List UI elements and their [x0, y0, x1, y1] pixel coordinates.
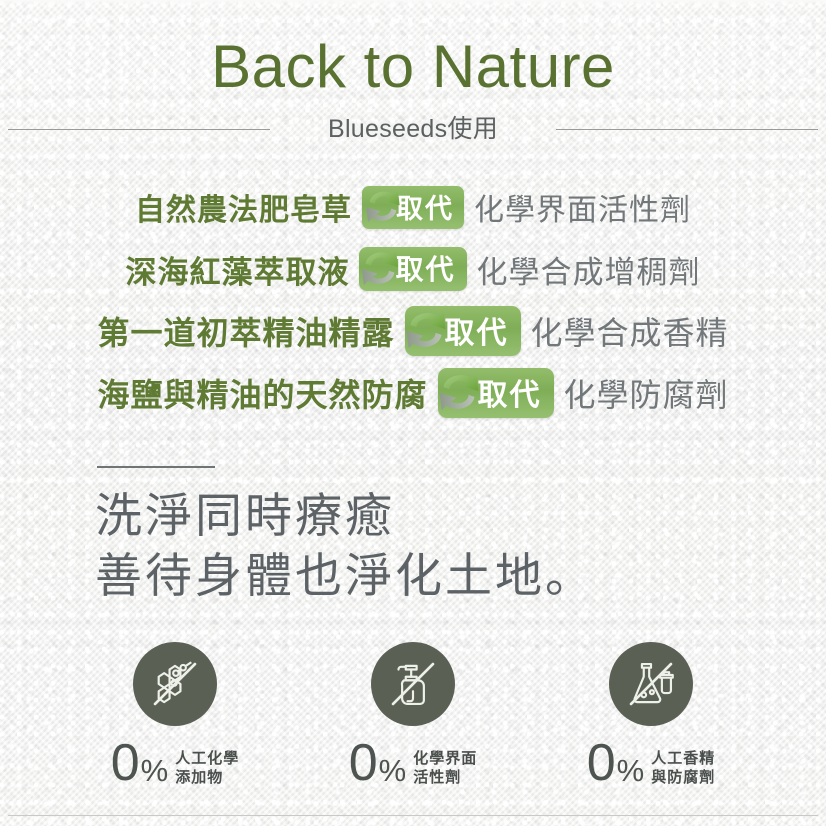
- bottom-divider: [8, 815, 818, 816]
- chemical-ingredient: 化學界面活性劑: [474, 185, 691, 229]
- natural-ingredient: 自然農法肥皂草: [135, 185, 352, 229]
- badge-value: 0: [349, 738, 377, 788]
- swap-badge: 取代: [362, 186, 464, 229]
- badge-label: 化學界面 活性劑: [413, 749, 477, 787]
- natural-ingredient: 深海紅藻萃取液: [125, 247, 349, 292]
- no-pump-bottle-icon: [384, 655, 442, 713]
- chemical-ingredient: 化學防腐劑: [564, 370, 729, 416]
- badge-value-row: 0 % 化學界面 活性劑: [349, 738, 478, 788]
- badge-no-artificial-chemicals: 0 % 人工化學 添加物: [80, 642, 270, 788]
- badge-disc: [371, 642, 455, 726]
- no-chemical-molecule-icon: [146, 655, 204, 713]
- badge-no-surfactant: 0 % 化學界面 活性劑: [318, 642, 508, 788]
- badge-value: 0: [111, 738, 139, 788]
- swap-badge: 取代: [438, 368, 554, 418]
- slogan: 洗淨同時療癒善待身體也淨化土地。: [95, 486, 595, 606]
- badge-value-row: 0 % 人工化學 添加物: [111, 738, 240, 788]
- poster-canvas: Back to Nature Blueseeds使用 自然農法肥皂草: [0, 0, 826, 826]
- replacement-list: 自然農法肥皂草 取代 化學界面活性劑: [0, 176, 826, 424]
- page-title: Back to Nature: [0, 32, 826, 102]
- badge-unit: %: [141, 754, 169, 788]
- replace-pill: 取代: [438, 368, 554, 418]
- replace-pill: 取代: [362, 186, 464, 229]
- badge-disc: [133, 642, 217, 726]
- replacement-row: 深海紅藻萃取液 取代 化學合成增稠劑: [0, 238, 826, 300]
- badge-disc: [609, 642, 693, 726]
- replacement-row: 第一道初萃精油精露 取代 化學合成香精: [0, 300, 826, 362]
- replace-pill: 取代: [359, 247, 466, 291]
- chemical-ingredient: 化學合成增稠劑: [477, 247, 701, 292]
- badge-value-row: 0 % 人工香精 與防腐劑: [587, 738, 716, 788]
- top-edge-highlight: [0, 0, 826, 6]
- natural-ingredient: 第一道初萃精油精露: [97, 308, 394, 354]
- badge-label: 人工化學 添加物: [175, 749, 239, 787]
- replace-pill: 取代: [405, 306, 521, 356]
- subtitle-divider-row: Blueseeds使用: [0, 109, 826, 149]
- badge-unit: %: [617, 754, 645, 788]
- slogan-divider: [97, 466, 215, 468]
- badge-label: 人工香精 與防腐劑: [651, 749, 715, 787]
- slogan-line-2: 善待身體也淨化土地。: [95, 549, 595, 602]
- zero-percent-badges: 0 % 人工化學 添加物: [0, 642, 826, 788]
- replacement-row: 海鹽與精油的天然防腐 取代 化學防腐劑: [0, 362, 826, 424]
- chemical-ingredient: 化學合成香精: [531, 308, 729, 354]
- no-flask-jar-icon: [622, 655, 680, 713]
- subtitle: Blueseeds使用: [0, 109, 826, 149]
- badge-no-fragrance-preservative: 0 % 人工香精 與防腐劑: [556, 642, 746, 788]
- slogan-line-1: 洗淨同時療癒: [95, 489, 395, 542]
- natural-ingredient: 海鹽與精油的天然防腐: [97, 370, 427, 416]
- badge-unit: %: [379, 754, 407, 788]
- badge-value: 0: [587, 738, 615, 788]
- replacement-row: 自然農法肥皂草 取代 化學界面活性劑: [0, 176, 826, 238]
- subtitle-text: Blueseeds使用: [314, 109, 512, 149]
- swap-badge: 取代: [405, 306, 521, 356]
- swap-badge: 取代: [359, 247, 466, 291]
